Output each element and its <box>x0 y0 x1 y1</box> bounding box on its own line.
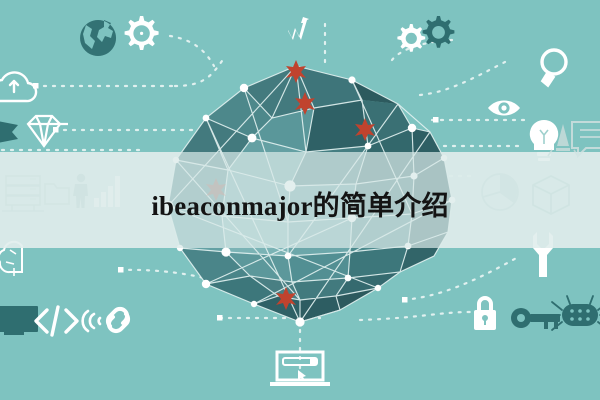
page-title: ibeaconmajor的简单介绍 <box>0 180 600 226</box>
hero-banner: ibeaconmajor的简单介绍 <box>0 0 600 400</box>
